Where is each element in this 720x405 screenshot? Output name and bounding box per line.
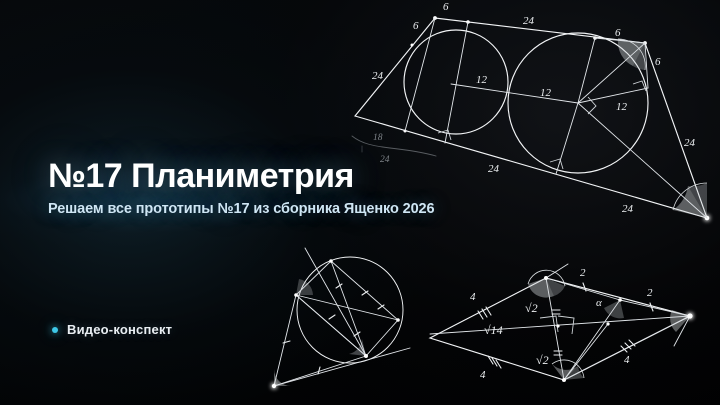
label-right-side: 2 <box>647 287 653 299</box>
angle-sectors <box>618 39 707 218</box>
label-brace-upper: 18 <box>373 133 383 143</box>
dot-icon <box>52 327 58 333</box>
angle-sectors <box>274 279 366 386</box>
label-upper-left-side: 4 <box>470 291 476 303</box>
measurement-brace <box>352 136 436 156</box>
label-top-right-b: 6 <box>655 56 661 68</box>
label-top-mid: 24 <box>523 15 535 27</box>
left-inscribed-circle <box>404 30 508 134</box>
label-lower-left-side: 4 <box>480 369 486 381</box>
badge-label: Видео-конспект <box>67 322 172 337</box>
external-triangle <box>274 248 410 386</box>
page-subtitle: Решаем все прототипы №17 из сборника Яще… <box>48 201 435 217</box>
extension-rays <box>546 264 690 380</box>
page-title: №17 Планиметрия <box>48 158 435 194</box>
label-top-left-b: 6 <box>413 20 419 32</box>
title-block: №17 Планиметрия Решаем все прототипы №17… <box>48 158 435 217</box>
label-bottom-left: 24 <box>488 163 500 175</box>
label-upper-sqrt: √2 <box>525 301 538 315</box>
label-mid-right: 12 <box>616 101 628 113</box>
slide-canvas: 6 6 24 6 6 24 12 12 12 24 24 24 18 24 <box>0 0 720 405</box>
label-left-side: 24 <box>372 70 384 82</box>
label-angle-alpha: α <box>596 297 602 309</box>
diagram-bottom-right-quad: 4 4 √14 √2 √2 2 2 4 α <box>428 256 720 404</box>
label-lower-sqrt: √2 <box>536 353 549 367</box>
label-top-right-a: 6 <box>615 27 621 39</box>
label-right-side: 24 <box>684 137 696 149</box>
label-bottom-right: 24 <box>622 203 634 215</box>
label-top-left-a: 6 <box>443 1 449 13</box>
diagram-bottom-left-circle <box>258 248 438 398</box>
video-notes-badge: Видео-конспект <box>52 322 172 337</box>
label-long-diagonal: √14 <box>484 323 503 337</box>
label-mid-left: 12 <box>476 74 488 86</box>
label-lower-right-side: 4 <box>624 354 630 366</box>
label-mid-center: 12 <box>540 87 552 99</box>
label-upper-right-side: 2 <box>580 267 586 279</box>
vertex-points <box>544 276 693 382</box>
